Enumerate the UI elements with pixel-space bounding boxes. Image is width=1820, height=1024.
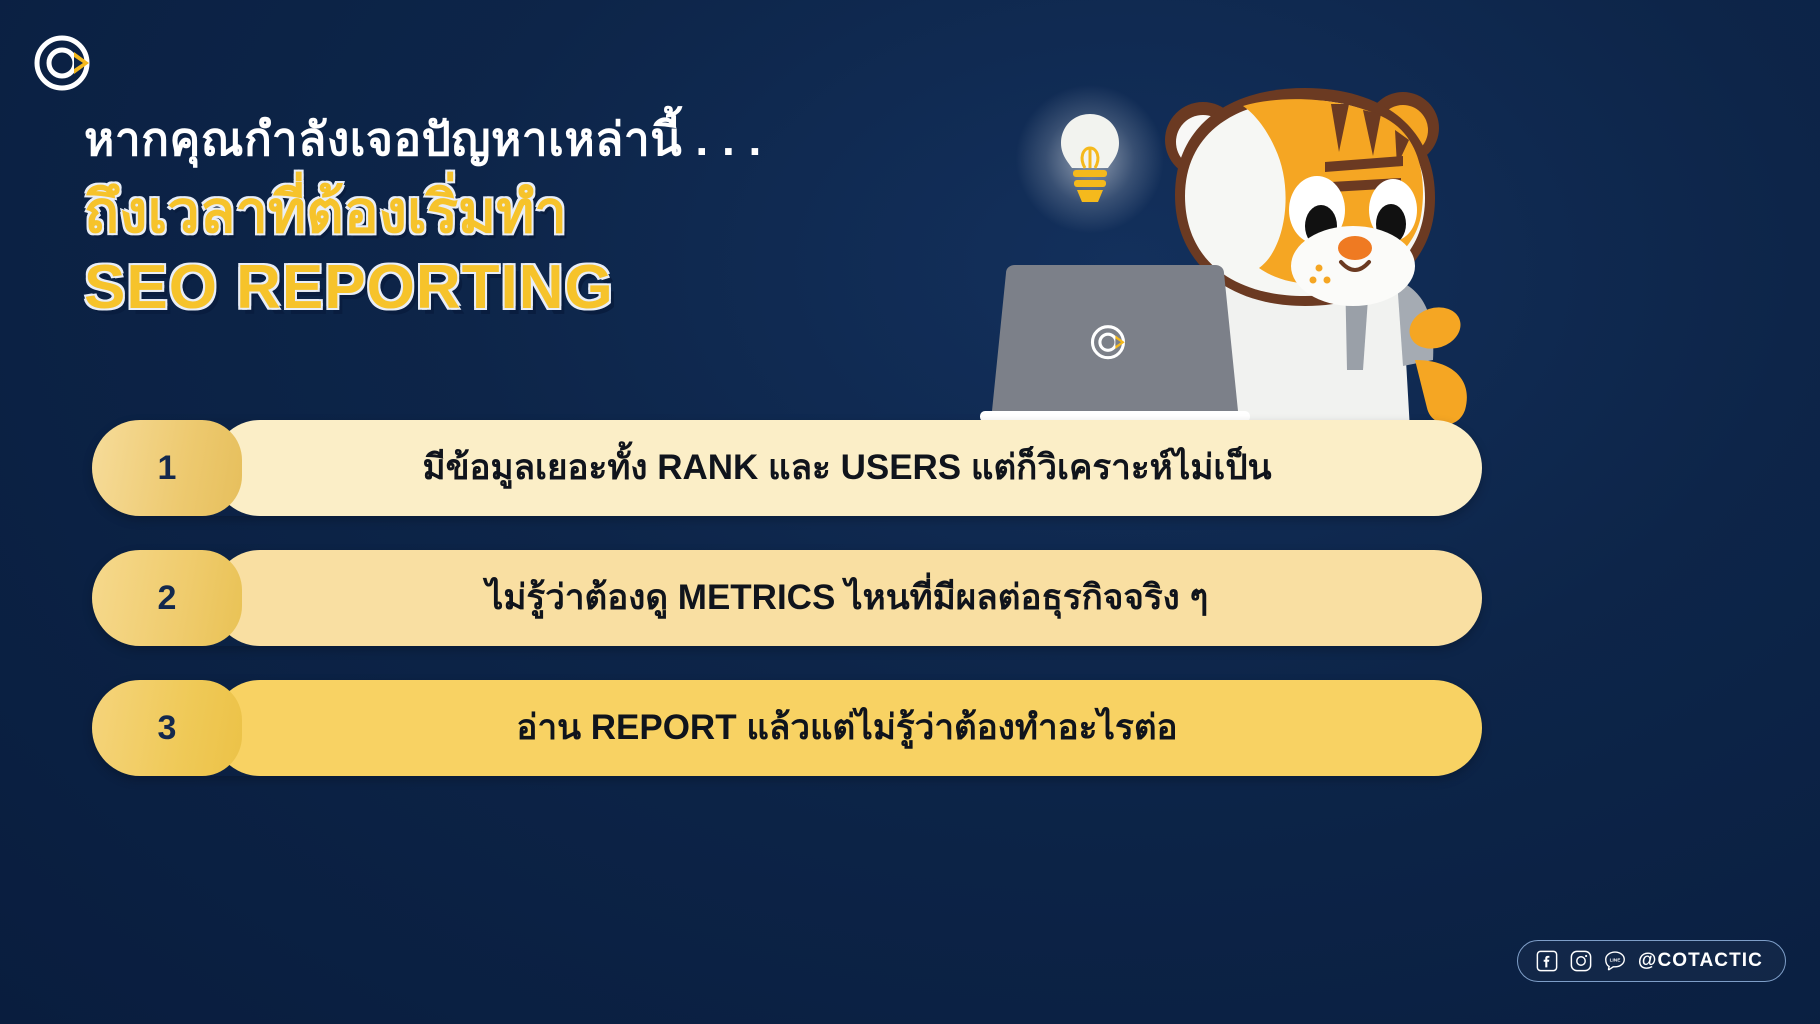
social-handle-text: @COTACTIC: [1638, 950, 1763, 972]
list-item-number: 1: [92, 420, 242, 516]
headline-title: SEO REPORTING: [84, 253, 984, 322]
list-item[interactable]: อ่าน REPORT แล้วแต่ไม่รู้ว่าต้องทำอะไรต่…: [92, 680, 1482, 776]
line-icon[interactable]: LINE: [1604, 950, 1626, 972]
headline-kicker: หากคุณกำลังเจอปัญหาเหล่านี้ . . .: [84, 112, 984, 166]
list-item-body: อ่าน REPORT แล้วแต่ไม่รู้ว่าต้องทำอะไรต่…: [212, 680, 1482, 776]
list-item-text: ไม่รู้ว่าต้องดู METRICS ไหนที่มีผลต่อธุร…: [256, 578, 1438, 618]
svg-text:LINE: LINE: [1609, 958, 1620, 964]
lightbulb-icon: [1055, 108, 1125, 218]
poster-canvas: หากคุณกำลังเจอปัญหาเหล่านี้ . . . ถึงเวล…: [0, 0, 1820, 1024]
facebook-icon[interactable]: [1536, 950, 1558, 972]
cotactic-logo: [33, 32, 99, 94]
list-item-number: 2: [92, 550, 242, 646]
list-item[interactable]: ไม่รู้ว่าต้องดู METRICS ไหนที่มีผลต่อธุร…: [92, 550, 1482, 646]
social-handle-badge[interactable]: LINE @COTACTIC: [1517, 940, 1786, 982]
list-item-text: อ่าน REPORT แล้วแต่ไม่รู้ว่าต้องทำอะไรต่…: [256, 708, 1438, 748]
headline-main: ถึงเวลาที่ต้องเริ่มทำ: [84, 178, 984, 249]
list-item[interactable]: มีข้อมูลเยอะทั้ง RANK และ USERS แต่ก็วิเ…: [92, 420, 1482, 516]
instagram-icon[interactable]: [1570, 950, 1592, 972]
headline-block: หากคุณกำลังเจอปัญหาเหล่านี้ . . . ถึงเวล…: [84, 112, 984, 322]
list-item-body: ไม่รู้ว่าต้องดู METRICS ไหนที่มีผลต่อธุร…: [212, 550, 1482, 646]
list-item-number: 3: [92, 680, 242, 776]
laptop: [980, 265, 1250, 430]
list-item-body: มีข้อมูลเยอะทั้ง RANK และ USERS แต่ก็วิเ…: [212, 420, 1482, 516]
mascot-illustration: [960, 70, 1480, 470]
list-item-text: มีข้อมูลเยอะทั้ง RANK และ USERS แต่ก็วิเ…: [256, 448, 1438, 488]
problem-list: มีข้อมูลเยอะทั้ง RANK และ USERS แต่ก็วิเ…: [92, 420, 1482, 810]
